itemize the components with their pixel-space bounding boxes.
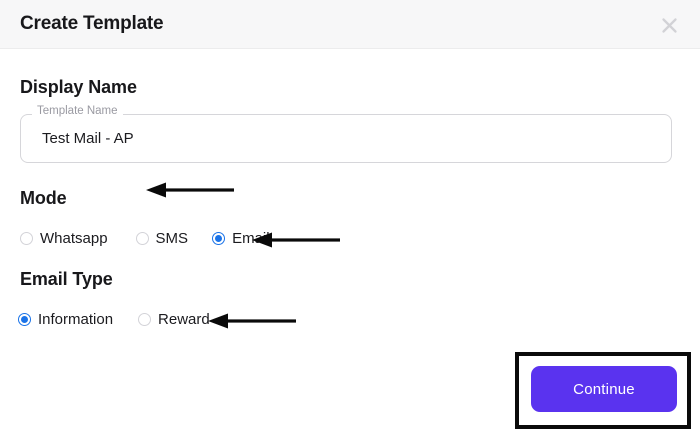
continue-button[interactable]: Continue: [531, 366, 677, 412]
radio-checked-icon: [18, 313, 31, 326]
mode-radio-sms[interactable]: SMS: [136, 230, 189, 247]
mode-radio-sms-label: SMS: [156, 230, 189, 247]
close-icon[interactable]: [657, 13, 681, 37]
annotation-arrow-reward-type: [208, 312, 296, 330]
email-type-radio-reward-label: Reward: [158, 311, 210, 328]
mode-radio-whatsapp-label: Whatsapp: [40, 230, 108, 247]
radio-unchecked-icon: [20, 232, 33, 245]
email-type-radio-reward[interactable]: Reward: [138, 311, 210, 328]
section-heading-email-type: Email Type: [20, 269, 113, 290]
email-type-radio-group: Information Reward: [18, 311, 210, 328]
radio-unchecked-icon: [136, 232, 149, 245]
mode-radio-group: Whatsapp SMS Email: [20, 230, 270, 247]
template-name-input[interactable]: Test Mail - AP: [42, 114, 134, 163]
email-type-radio-information-label: Information: [38, 311, 113, 328]
template-name-field[interactable]: Template Name Test Mail - AP: [20, 114, 672, 163]
section-heading-mode: Mode: [20, 188, 67, 209]
radio-checked-icon: [212, 232, 225, 245]
email-type-radio-information[interactable]: Information: [18, 311, 113, 328]
section-heading-display-name: Display Name: [20, 77, 137, 98]
mode-radio-whatsapp[interactable]: Whatsapp: [20, 230, 108, 247]
dialog-header: Create Template: [0, 0, 700, 49]
annotation-arrow-template-name: [146, 181, 234, 199]
annotation-arrow-email-mode: [252, 231, 340, 249]
radio-unchecked-icon: [138, 313, 151, 326]
page-title: Create Template: [20, 13, 163, 35]
